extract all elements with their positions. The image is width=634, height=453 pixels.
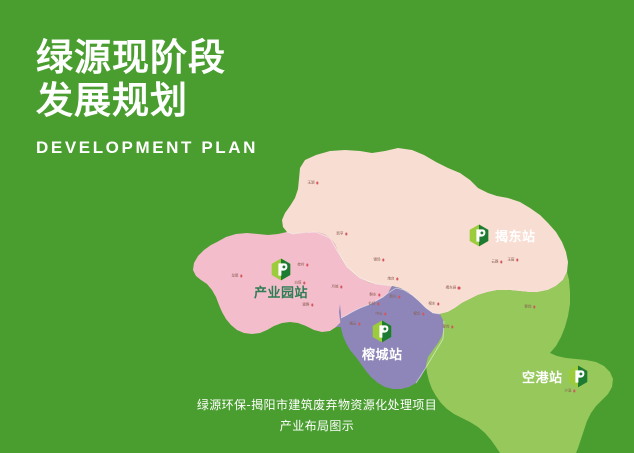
station-marker-rongcheng[interactable]: 榕城站 [362, 320, 403, 363]
lvyuan-hex-logo-icon [372, 320, 392, 343]
lvyuan-hex-logo-icon [568, 365, 588, 388]
station-marker-chanyeyuan[interactable]: 产业园站 [254, 258, 308, 301]
station-marker-konggang[interactable]: 空港站 [522, 365, 588, 388]
title-line-1: 绿源现阶段 [36, 36, 356, 79]
title-line-2: 发展规划 [36, 79, 356, 122]
station-label-jiedong: 揭东站 [495, 226, 536, 245]
title-block: 绿源现阶段 发展规划 DEVELOPMENT PLAN [36, 36, 356, 158]
caption-line-1: 绿源环保-揭阳市建筑废弃物资源化处理项目 [0, 395, 634, 416]
development-plan-poster: 绿源现阶段 发展规划 DEVELOPMENT PLAN 揭东站 产业园站 榕城站 [0, 0, 634, 453]
station-label-rongcheng: 榕城站 [362, 344, 403, 363]
subtitle-english: DEVELOPMENT PLAN [36, 138, 356, 158]
caption-line-2: 产业布局图示 [0, 416, 634, 437]
station-label-chanyeyuan: 产业园站 [254, 282, 308, 301]
station-marker-jiedong[interactable]: 揭东站 [469, 224, 536, 247]
station-label-konggang: 空港站 [522, 367, 563, 386]
lvyuan-hex-logo-icon [271, 258, 291, 281]
lvyuan-hex-logo-icon [469, 224, 489, 247]
caption-block: 绿源环保-揭阳市建筑废弃物资源化处理项目 产业布局图示 [0, 395, 634, 437]
